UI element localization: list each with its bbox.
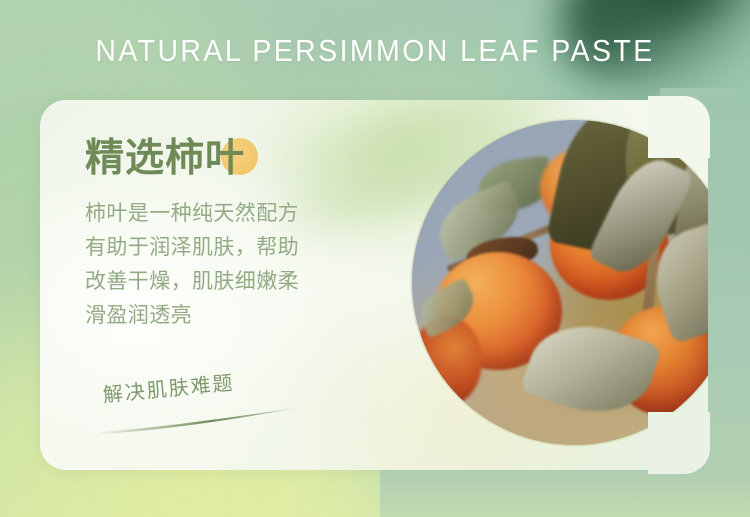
card-tagline: 解决肌肤难题 <box>102 369 236 408</box>
promo-banner: NATURAL PERSIMMON LEAF PASTE 精选柿叶 柿叶是一种纯… <box>0 0 750 517</box>
brush-stroke-icon <box>97 406 307 436</box>
card-body-copy: 柿叶是一种纯天然配方 有助于润泽肌肤，帮助 改善干燥，肌肤细嫩柔 滑盈润透亮 <box>85 196 375 332</box>
heading-row: 精选柿叶 <box>85 136 245 182</box>
content-card: 精选柿叶 柿叶是一种纯天然配方 有助于润泽肌肤，帮助 改善干燥，肌肤细嫩柔 滑盈… <box>40 100 708 470</box>
body-line: 有助于润泽肌肤，帮助 <box>85 230 375 264</box>
card-heading: 精选柿叶 <box>85 136 245 182</box>
tagline-group: 解决肌肤难题 <box>95 376 395 440</box>
card-corner-round-bottom-right <box>648 412 710 474</box>
card-edge-mask-right <box>708 100 750 470</box>
body-line: 改善干燥，肌肤细嫩柔 <box>85 264 375 298</box>
card-corner-round-top-right <box>648 96 710 158</box>
card-edge-mask-bottom <box>380 470 750 517</box>
body-line: 滑盈润透亮 <box>85 298 375 332</box>
card-text-block: 精选柿叶 柿叶是一种纯天然配方 有助于润泽肌肤，帮助 改善干燥，肌肤细嫩柔 滑盈… <box>85 136 385 332</box>
body-line: 柿叶是一种纯天然配方 <box>85 196 375 230</box>
page-title: NATURAL PERSIMMON LEAF PASTE <box>30 32 720 70</box>
